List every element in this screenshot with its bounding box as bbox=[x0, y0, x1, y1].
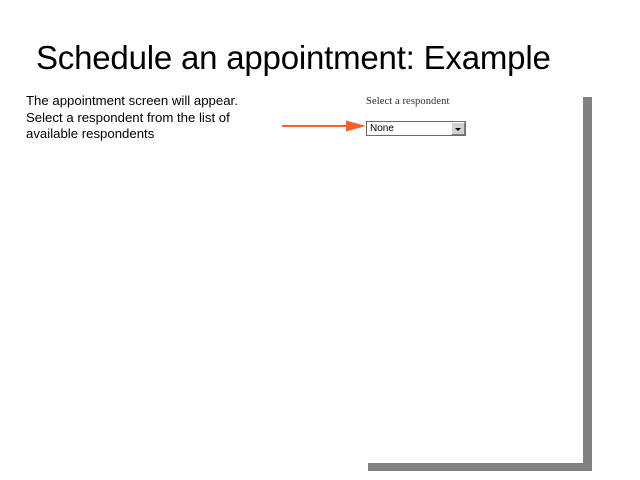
right-arrow-annotation-icon bbox=[282, 118, 368, 134]
body-paragraph: The appointment screen will appear. Sele… bbox=[26, 93, 254, 143]
respondent-select-label: Select a respondent bbox=[366, 96, 450, 107]
respondent-select[interactable]: None bbox=[366, 121, 466, 136]
page-title: Schedule an appointment: Example bbox=[36, 38, 616, 78]
chevron-down-icon[interactable] bbox=[451, 122, 465, 135]
shadow-frame-vertical bbox=[583, 97, 592, 471]
embedded-screenshot: Select a respondent None bbox=[362, 94, 592, 144]
arrow-head bbox=[346, 121, 366, 132]
slide-canvas: Schedule an appointment: Example The app… bbox=[0, 0, 640, 480]
respondent-select-value: None bbox=[367, 122, 451, 135]
shadow-frame-horizontal bbox=[368, 463, 592, 471]
